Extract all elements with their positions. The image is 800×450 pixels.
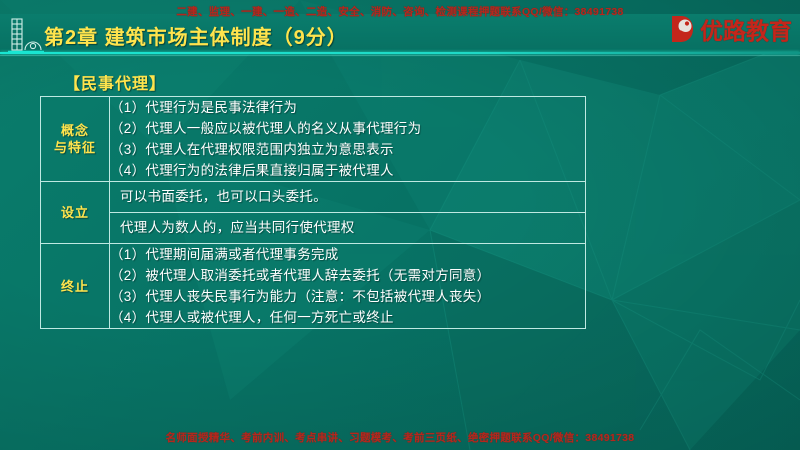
row-content-establish-2: 代理人为数人的，应当共同行使代理权 — [110, 213, 586, 244]
list-item: （2）代理人一般应以被代理人的名义从事代理行为 — [110, 118, 585, 139]
page-title: 第2章 建筑市场主体制度（9分） — [44, 18, 348, 52]
list-item: 可以书面委托，也可以口头委托。 — [120, 187, 579, 207]
list-item: （3）代理人在代理权限范围内独立为意思表示 — [110, 139, 585, 160]
youlu-logo-icon — [668, 14, 696, 44]
list-item: （2）被代理人取消委托或者代理人辞去委托（无需对方同意） — [110, 265, 585, 286]
row-content-establish-1: 可以书面委托，也可以口头委托。 — [110, 182, 586, 213]
row-category-establish: 设立 — [41, 182, 110, 244]
presentation-slide: 二建、监理、一建、一造、二造、安全、消防、咨询、检测课程押题联系QQ/微信：38… — [0, 0, 800, 450]
brand-logo: 优路教育 — [668, 12, 792, 46]
table-row: 设立 可以书面委托，也可以口头委托。 — [41, 182, 586, 213]
top-marquee-text: 二建、监理、一建、一造、二造、安全、消防、咨询、检测课程押题联系QQ/微信：38… — [176, 5, 623, 19]
table-row: 终止 （1）代理期间届满或者代理事务完成 （2）被代理人取消委托或者代理人辞去委… — [41, 244, 586, 329]
list-item: （1）代理期间届满或者代理事务完成 — [110, 244, 585, 265]
row-category-concept: 概念 与特征 — [41, 97, 110, 182]
header-divider-line — [0, 52, 800, 54]
civil-agency-table: 概念 与特征 （1）代理行为是民事法律行为 （2）代理人一般应以被代理人的名义从… — [40, 96, 586, 329]
header-divider-line-secondary — [0, 55, 800, 56]
bottom-marquee-text: 名师面授精华、考前内训、考点串讲、习题模考、考前三页纸、绝密押题联系QQ/微信：… — [166, 431, 635, 445]
table-row: 代理人为数人的，应当共同行使代理权 — [41, 213, 586, 244]
list-item: （4）代理行为的法律后果直接归属于被代理人 — [110, 160, 585, 181]
building-line-icon — [8, 16, 44, 54]
list-item: （1）代理行为是民事法律行为 — [110, 97, 585, 118]
brand-name-text: 优路教育 — [700, 12, 792, 46]
row-content-terminate: （1）代理期间届满或者代理事务完成 （2）被代理人取消委托或者代理人辞去委托（无… — [110, 244, 586, 329]
category-line: 与特征 — [41, 139, 109, 156]
row-category-terminate: 终止 — [41, 244, 110, 329]
category-line: 终止 — [41, 278, 109, 295]
category-line: 概念 — [41, 122, 109, 139]
table-row: 概念 与特征 （1）代理行为是民事法律行为 （2）代理人一般应以被代理人的名义从… — [41, 97, 586, 182]
section-heading: 【民事代理】 — [64, 70, 166, 94]
category-line: 设立 — [41, 204, 109, 221]
list-item: （3）代理人丧失民事行为能力（注意：不包括被代理人丧失） — [110, 286, 585, 307]
bottom-marquee: 名师面授精华、考前内训、考点串讲、习题模考、考前三页纸、绝密押题联系QQ/微信：… — [0, 428, 800, 446]
list-item: （4）代理人或被代理人，任何一方死亡或终止 — [110, 307, 585, 328]
list-item: 代理人为数人的，应当共同行使代理权 — [120, 218, 579, 238]
row-content-concept: （1）代理行为是民事法律行为 （2）代理人一般应以被代理人的名义从事代理行为 （… — [110, 97, 586, 182]
